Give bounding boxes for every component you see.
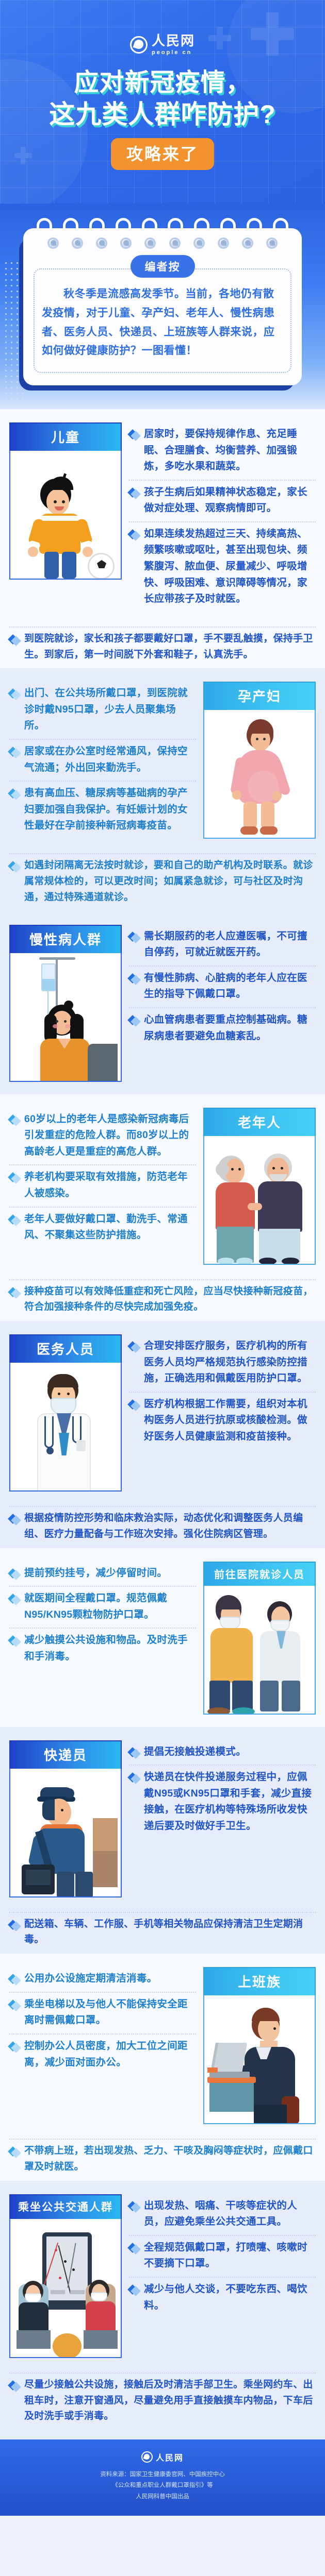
tip-text: 到医院就诊，家长和孩子都要戴好口罩，手不要乱触摸，保持手卫生。到家后，第一时间脱… (24, 631, 316, 663)
tip-text: 接种疫苗可以有效降低重症和死亡风险，应当尽快接种新冠疫苗，符合加强接种条件的尽快… (24, 1284, 316, 1316)
footer-logo-name: 人民网 (156, 2451, 184, 2463)
illustration-woman-with-iv-drip (9, 953, 122, 1082)
group-card-hospital-visitor: 前往医院就诊人员 (203, 1562, 316, 1715)
tip-text: 不带病上班，若出现发热、乏力、干咳及胸闷等症状时，应佩戴口罩及时就医。 (24, 2143, 316, 2175)
tip-text: 出门、在公共场所戴口罩，到医院就诊时戴N95口罩，少去人员聚集场所。 (24, 685, 196, 734)
tip-item: 居家或在办公室时经常通风，保持空气流通；外出回来勤洗手。 (9, 739, 196, 781)
tip-item: 心血管病患者要重点控制基础病。糖尿病患者要避免血糖紊乱。 (129, 1007, 316, 1049)
section-medical-staff-footnote: 根据疫情防控形势和临床救治实际，动态优化和调整医务人员编组、医疗力量配备与工作班… (0, 1504, 325, 1548)
section-hospital-visitor: 前往医院就诊人员 (0, 1548, 325, 1727)
tip-item: 配送箱、车辆、工作服、手机等相关物品应保持清洁卫生定期消毒。 (9, 1912, 316, 1953)
tip-text: 提前预约挂号，减少停留时间。 (24, 1565, 167, 1582)
diamond-bullet-icon (129, 530, 139, 540)
group-title-elderly: 老年人 (203, 1108, 316, 1136)
tip-item: 根据疫情防控形势和临床救治实际，动态优化和调整医务人员编组、医疗力量配备与工作班… (9, 1506, 316, 1547)
illustration-delivery-courier (9, 1769, 122, 1897)
site-logo: 人民网 people cn (0, 0, 325, 56)
tip-item: 接种疫苗可以有效降低重症和死亡风险，应当尽快接种新冠疫苗，符合加强接种条件的尽快… (9, 1279, 316, 1320)
illustration-man-at-laptop (203, 1995, 316, 2124)
footer-source-line-3: 人民网科普中国出品 (12, 2492, 313, 2502)
group-title-children: 儿童 (9, 422, 122, 451)
illustration-pregnant-woman (203, 710, 316, 839)
diamond-bullet-icon (129, 2201, 139, 2212)
tip-text: 配送箱、车辆、工作服、手机等相关物品应保持清洁卫生定期消毒。 (24, 1917, 316, 1948)
diamond-bullet-icon (9, 1569, 20, 1579)
hero-banner: 人民网 people cn 应对新冠疫情， 这九类人群咋防护? 攻略来了 (0, 0, 325, 204)
tip-item: 提前预约挂号，减少停留时间。 (9, 1562, 196, 1586)
group-title-chronic: 慢性病人群 (9, 925, 122, 953)
group-card-elderly: 老年人 (203, 1108, 316, 1265)
diamond-bullet-icon (9, 1173, 20, 1183)
tips-hospital-visitor: 提前预约挂号，减少停留时间。 就医期间全程戴口罩。规范佩戴N95/KN95颗粒物… (9, 1562, 196, 1670)
diamond-bullet-icon (129, 1773, 139, 1783)
tip-item: 如遇封闭隔离无法按时就诊，要和自己的助产机构及时联系。就诊属常规体检的，可以更改… (9, 853, 316, 910)
section-pregnant: 孕产妇 (0, 668, 325, 851)
tip-text: 减少触摸公共设施和物品。及时洗手和手消毒。 (24, 1632, 196, 1665)
diamond-bullet-icon (9, 635, 20, 645)
diamond-bullet-icon (129, 1015, 139, 1026)
section-children: 儿童 (0, 409, 325, 624)
tip-text: 如遇封闭隔离无法按时就诊，要和自己的助产机构及时联系。就诊属常规体检的，可以更改… (24, 858, 316, 905)
diamond-bullet-icon (129, 1342, 139, 1352)
tip-text: 居家时，要保持规律作息、充足睡眠、合理膳食、均衡营养、加强锻炼，多吃水果和蔬菜。 (144, 426, 316, 475)
section-public-transport: 乘坐公共交通人群 (0, 2181, 325, 2370)
tip-item: 60岁以上的老年人是感染新冠病毒后引发重症的危险人群。而80岁以上的高龄老人更是… (9, 1108, 196, 1165)
diamond-bullet-icon (9, 1920, 20, 1930)
group-title-hospital-visitor: 前往医院就诊人员 (203, 1562, 316, 1586)
editor-note-tag: 编者按 (131, 255, 195, 278)
logo-english-name: people cn (152, 49, 192, 56)
tip-item: 快递员在快件投递服务过程中，应佩戴N95或KN95口罩和手套，减少直接接触，在医… (129, 1765, 316, 1839)
tip-text: 减少与他人交谈，不要吃东西、喝饮料。 (144, 2281, 316, 2314)
tip-item: 全程规范佩戴口罩，打喷嚏、咳嗽时不要摘下口罩。 (129, 2235, 316, 2277)
intro-text-box: 秋冬季是流感高发季节。当前，各地仍有散发疫情，对于儿童、孕产妇、老年人、慢性病患… (34, 268, 291, 373)
group-card-chronic: 慢性病人群 (9, 925, 122, 1082)
group-title-public-transport: 乘坐公共交通人群 (9, 2194, 122, 2219)
tip-item: 孩子生病后如果精神状态稳定，家长做对症处理、观察病情即可。 (129, 480, 316, 521)
group-card-office-worker: 上班族 (203, 1967, 316, 2124)
section-office-worker-footnote: 不带病上班，若出现发热、乏力、干咳及胸闷等症状时，应佩戴口罩及时就医。 (0, 2137, 325, 2181)
group-card-courier: 快递员 (9, 1740, 122, 1897)
tip-text: 孩子生病后如果精神状态稳定，家长做对症处理、观察病情即可。 (144, 484, 316, 517)
tip-text: 居家或在办公室时经常通风，保持空气流通；外出回来勤洗手。 (24, 743, 196, 776)
section-children-footnote: 到医院就诊，家长和孩子都要戴好口罩，手不要乱触摸，保持手卫生。到家后，第一时间脱… (0, 624, 325, 669)
tip-text: 尽量少接触公共设施，接触后及时清洁手部卫生。乘坐网约车、出租车时，注意开窗通风，… (24, 2377, 316, 2425)
tips-medical-staff: 合理安排医疗服务，医疗机构的所有医务人员均严格规范执行感染防控措施，正确选用和佩… (129, 1334, 316, 1449)
footer-source-line-2: 《公众和重点职业人群戴口罩指引》等 (12, 2480, 313, 2491)
tip-item: 不带病上班，若出现发热、乏力、干咳及胸闷等症状时，应佩戴口罩及时就医。 (9, 2139, 316, 2180)
diamond-bullet-icon (9, 861, 20, 872)
group-card-pregnant: 孕产妇 (203, 682, 316, 839)
tip-item: 医疗机构根据工作需要，组织对本机构医务人员进行抗原或核酸检测。做好医务人员健康监… (129, 1392, 316, 1450)
tips-children: 居家时，要保持规律作息、充足睡眠、合理膳食、均衡营养、加强锻炼，多吃水果和蔬菜。… (129, 422, 316, 612)
diamond-bullet-icon (9, 1287, 20, 1298)
tip-text: 医疗机构根据工作需要，组织对本机构医务人员进行抗原或核酸检测。做好医务人员健康监… (144, 1396, 316, 1445)
tip-text: 心血管病患者要重点控制基础病。糖尿病患者要避免血糖紊乱。 (144, 1012, 316, 1044)
section-courier: 快递员 (0, 1727, 325, 1910)
tip-item: 公用办公设施定期清洁消毒。 (9, 1967, 196, 1992)
page-title: 应对新冠疫情， 这九类人群咋防护? (0, 69, 325, 129)
tip-item: 提倡无接触投递模式。 (129, 1740, 316, 1765)
section-chronic: 慢性病人群 (0, 911, 325, 1094)
tip-item: 有慢性肺病、心脏病的老年人应在医生的指导下佩戴口罩。 (129, 965, 316, 1007)
section-pregnant-footnote: 如遇封闭隔离无法按时就诊，要和自己的助产机构及时联系。就诊属常规体检的，可以更改… (0, 851, 325, 911)
group-card-public-transport: 乘坐公共交通人群 (9, 2194, 122, 2358)
infographic-page: 人民网 people cn 应对新冠疫情， 这九类人群咋防护? 攻略来了 (0, 0, 325, 2516)
group-title-office-worker: 上班族 (203, 1967, 316, 1995)
tip-text: 需长期服药的老人应遵医嘱，不可擅自停药，可就近就医开药。 (144, 928, 316, 961)
footer-source-line-1: 资料来源：国家卫生健康委官网、中国疾控中心 (12, 2469, 313, 2480)
diamond-bullet-icon (9, 789, 20, 799)
diamond-bullet-icon (9, 689, 20, 699)
people-cn-logo-icon (130, 36, 148, 54)
tip-text: 全程规范佩戴口罩，打喷嚏、咳嗽时不要摘下口罩。 (144, 2240, 316, 2272)
diamond-bullet-icon (9, 747, 20, 757)
section-public-transport-footnote: 尽量少接触公共设施，接触后及时清洁手部卫生。乘坐网约车、出租车时，注意开窗通风，… (0, 2370, 325, 2439)
diamond-bullet-icon (129, 430, 139, 440)
diamond-bullet-icon (9, 1636, 20, 1646)
section-elderly-footnote: 接种疫苗可以有效降低重症和死亡风险，应当尽快接种新冠疫苗，符合加强接种条件的尽快… (0, 1277, 325, 1321)
group-title-courier: 快递员 (9, 1740, 122, 1769)
tips-public-transport: 出现发热、咽痛、干咳等症状的人员，应避免乘坐公共交通工具。 全程规范佩戴口罩，打… (129, 2194, 316, 2318)
diamond-bullet-icon (129, 2285, 139, 2295)
footer: 人民网 资料来源：国家卫生健康委官网、中国疾控中心 《公众和重点职业人群戴口罩指… (0, 2439, 325, 2516)
diamond-bullet-icon (9, 1594, 20, 1604)
tip-text: 60岁以上的老年人是感染新冠病毒后引发重症的危险人群。而80岁以上的高龄老人更是… (24, 1111, 196, 1160)
diamond-bullet-icon (9, 1215, 20, 1225)
notepad-holes (34, 238, 291, 252)
illustration-patient-and-nurse (203, 1586, 316, 1715)
tip-item: 就医期间全程戴口罩。规范佩戴N95/KN95颗粒物防护口罩。 (9, 1586, 196, 1628)
tip-text: 就医期间全程戴口罩。规范佩戴N95/KN95颗粒物防护口罩。 (24, 1590, 196, 1623)
hero-badge: 攻略来了 (111, 138, 214, 170)
notepad: 编者按 秋冬季是流感高发季节。当前，各地仍有散发疫情，对于儿童、孕产妇、老年人、… (23, 218, 302, 385)
tip-item: 居家时，要保持规律作息、充足睡眠、合理膳食、均衡营养、加强锻炼，多吃水果和蔬菜。 (129, 422, 316, 480)
tip-text: 控制办公人员密度，加大工位之间距离，减少面对面办公。 (24, 2038, 196, 2071)
tip-item: 减少触摸公共设施和物品。及时洗手和手消毒。 (9, 1628, 196, 1669)
section-elderly: 老年人 (0, 1094, 325, 1277)
tips-elderly: 60岁以上的老年人是感染新冠病毒后引发重症的危险人群。而80岁以上的高龄老人更是… (9, 1108, 196, 1248)
diamond-bullet-icon (9, 2000, 20, 2010)
tip-text: 有慢性肺病、心脏病的老年人应在医生的指导下佩戴口罩。 (144, 970, 316, 1003)
people-cn-logo-icon (141, 2451, 153, 2463)
diamond-bullet-icon (129, 1748, 139, 1758)
tip-text: 快递员在快件投递服务过程中，应佩戴N95或KN95口罩和手套，减少直接接触，在医… (144, 1769, 316, 1834)
diamond-bullet-icon (129, 488, 139, 498)
diamond-bullet-icon (9, 1115, 20, 1125)
tip-text: 合理安排医疗服务，医疗机构的所有医务人员均严格规范执行感染防控措施，正确选用和佩… (144, 1338, 316, 1387)
tip-text: 出现发热、咽痛、干咳等症状的人员，应避免乘坐公共交通工具。 (144, 2198, 316, 2230)
diamond-bullet-icon (9, 2147, 20, 2157)
diamond-bullet-icon (9, 2381, 20, 2391)
diamond-bullet-icon (129, 2243, 139, 2253)
tip-item: 减少与他人交谈，不要吃东西、喝饮料。 (129, 2277, 316, 2318)
diamond-bullet-icon (9, 1514, 20, 1524)
tip-item: 出现发热、咽痛、干咳等症状的人员，应避免乘坐公共交通工具。 (129, 2194, 316, 2235)
diamond-bullet-icon (9, 2042, 20, 2052)
group-title-pregnant: 孕产妇 (203, 682, 316, 710)
tip-item: 养老机构要采取有效措施，防范老年人被感染。 (9, 1164, 196, 1206)
diamond-bullet-icon (129, 1400, 139, 1410)
diamond-bullet-icon (9, 1974, 20, 1985)
section-courier-footnote: 配送箱、车辆、工作服、手机等相关物品应保持清洁卫生定期消毒。 (0, 1910, 325, 1954)
section-office-worker: 上班族 (0, 1954, 325, 2137)
tip-item: 患有高血压、糖尿病等基础病的孕产妇要加强自我保护。有妊娠计划的女性最好在孕前接种… (9, 781, 196, 839)
tip-item: 控制办公人员密度，加大工位之间距离，减少面对面办公。 (9, 2033, 196, 2075)
title-line-2: 这九类人群咋防护? (0, 100, 325, 129)
footer-logo: 人民网 (12, 2451, 313, 2463)
tip-item: 尽量少接触公共设施，接触后及时清洁手部卫生。乘坐网约车、出租车时，注意开窗通风，… (9, 2372, 316, 2429)
title-line-1: 应对新冠疫情， (0, 69, 325, 97)
tip-item: 合理安排医疗服务，医疗机构的所有医务人员均严格规范执行感染防控措施，正确选用和佩… (129, 1334, 316, 1392)
group-card-medical-staff: 医务人员 (9, 1334, 122, 1492)
tip-text: 患有高血压、糖尿病等基础病的孕产妇要加强自我保护。有妊娠计划的女性最好在孕前接种… (24, 785, 196, 834)
tip-text: 老年人要做好戴口罩、勤洗手、常通风、不聚集这些防护措施。 (24, 1211, 196, 1244)
illustration-passengers-on-subway (9, 2219, 122, 2358)
tip-text: 公用办公设施定期清洁消毒。 (24, 1971, 157, 1987)
tips-chronic: 需长期服药的老人应遵医嘱，不可擅自停药，可就近就医开药。 有慢性肺病、心脏病的老… (129, 925, 316, 1049)
group-title-medical-staff: 医务人员 (9, 1334, 122, 1363)
illustration-doctor-with-mask (9, 1363, 122, 1492)
tips-courier: 提倡无接触投递模式。 快递员在快件投递服务过程中，应佩戴N95或KN95口罩和手… (129, 1740, 316, 1839)
tip-item: 老年人要做好戴口罩、勤洗手、常通风、不聚集这些防护措施。 (9, 1207, 196, 1248)
tip-item: 如果连续发热超过三天、持续高热、频繁咳嗽或呕吐，甚至出现包块、频繁腹泻、脓血便、… (129, 521, 316, 612)
tips-pregnant: 出门、在公共场所戴口罩，到医院就诊时戴N95口罩，少去人员聚集场所。 居家或在办… (9, 682, 196, 839)
diamond-bullet-icon (129, 974, 139, 984)
tip-text: 乘坐电梯以及与他人不能保持安全距离时需佩戴口罩。 (24, 1996, 196, 2029)
tip-item: 需长期服药的老人应遵医嘱，不可擅自停药，可就近就医开药。 (129, 925, 316, 965)
logo-chinese-name: 人民网 (152, 34, 195, 47)
illustration-boy-with-soccer-ball (9, 451, 122, 580)
intro-section: 编者按 秋冬季是流感高发季节。当前，各地仍有散发疫情，对于儿童、孕产妇、老年人、… (0, 204, 325, 409)
tip-text: 提倡无接触投递模式。 (144, 1744, 246, 1760)
tip-text: 根据疫情防控形势和临床救治实际，动态优化和调整医务人员编组、医疗力量配备与工作班… (24, 1511, 316, 1543)
tip-item: 到医院就诊，家长和孩子都要戴好口罩，手不要乱触摸，保持手卫生。到家后，第一时间脱… (9, 626, 316, 668)
section-medical-staff: 医务人员 (0, 1321, 325, 1504)
illustration-elderly-couple (203, 1136, 316, 1265)
diamond-bullet-icon (129, 932, 139, 942)
intro-text: 秋冬季是流感高发季节。当前，各地仍有散发疫情，对于儿童、孕产妇、老年人、慢性病患… (42, 285, 283, 361)
tip-text: 如果连续发热超过三天、持续高热、频繁咳嗽或呕吐，甚至出现包块、频繁腹泻、脓血便、… (144, 526, 316, 607)
group-card-children: 儿童 (9, 422, 122, 580)
tip-item: 出门、在公共场所戴口罩，到医院就诊时戴N95口罩，少去人员聚集场所。 (9, 682, 196, 739)
tip-text: 养老机构要采取有效措施，防范老年人被感染。 (24, 1169, 196, 1201)
tips-office-worker: 公用办公设施定期清洁消毒。 乘坐电梯以及与他人不能保持安全距离时需佩戴口罩。 控… (9, 1967, 196, 2075)
tip-item: 乘坐电梯以及与他人不能保持安全距离时需佩戴口罩。 (9, 1992, 196, 2033)
